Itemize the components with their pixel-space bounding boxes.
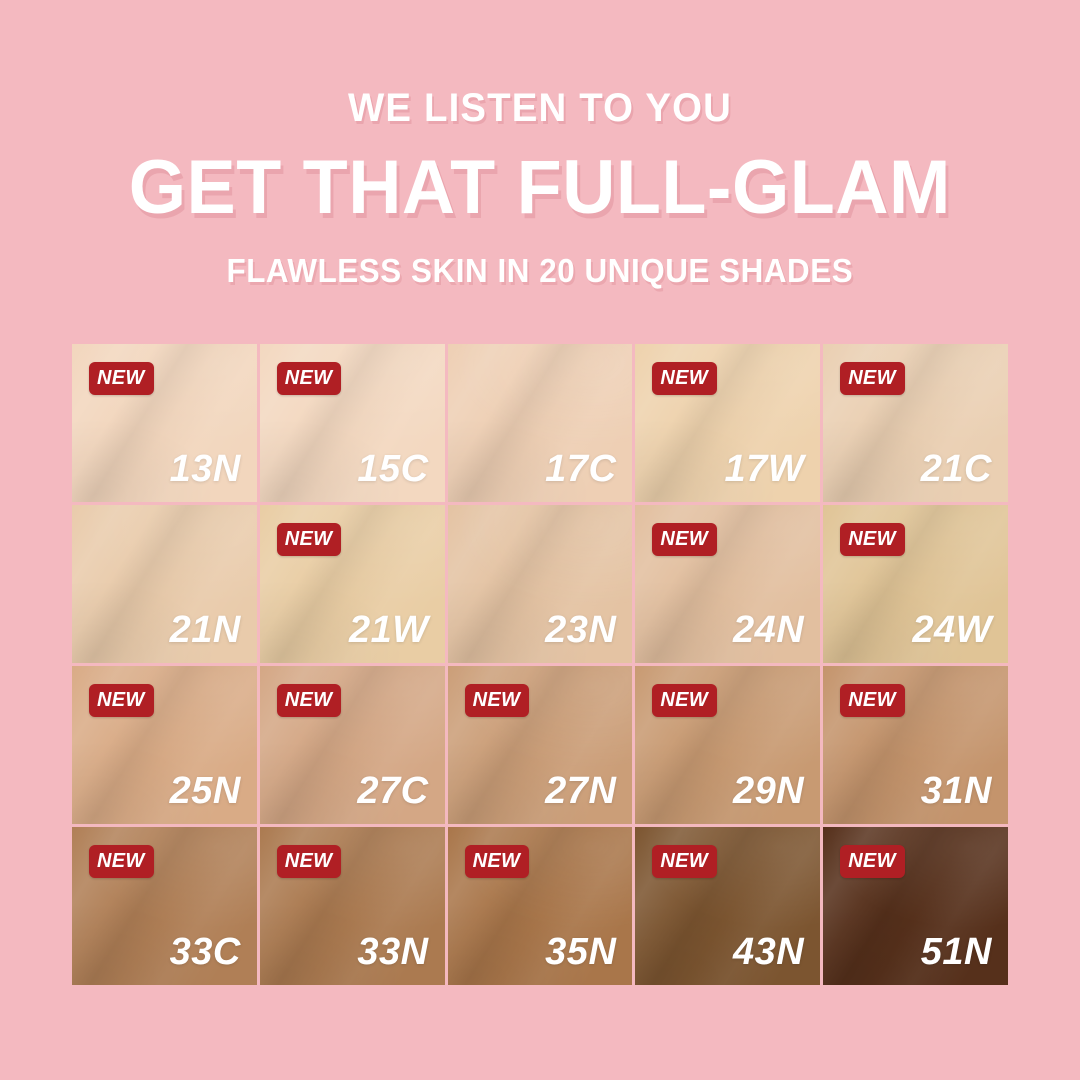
shade-code-label: 51N: [921, 933, 992, 971]
new-badge: NEW: [652, 362, 717, 395]
new-badge: NEW: [840, 845, 905, 878]
new-badge: NEW: [277, 684, 342, 717]
new-badge: NEW: [89, 845, 154, 878]
shade-swatch[interactable]: NEW13N: [72, 344, 257, 502]
shade-swatch[interactable]: NEW51N: [823, 827, 1008, 985]
shade-swatch[interactable]: NEW43N: [635, 827, 820, 985]
shade-code-label: 25N: [170, 772, 241, 810]
shade-swatch[interactable]: NEW15C: [260, 344, 445, 502]
new-badge: NEW: [465, 684, 530, 717]
shade-code-label: 17C: [545, 450, 616, 488]
shade-code-label: 29N: [733, 772, 804, 810]
new-badge: NEW: [89, 362, 154, 395]
new-badge: NEW: [277, 523, 342, 556]
shade-code-label: 21C: [921, 450, 992, 488]
shade-code-label: 27C: [357, 772, 428, 810]
shade-swatch[interactable]: NEW24N: [635, 505, 820, 663]
shade-swatch[interactable]: NEW31N: [823, 666, 1008, 824]
new-badge: NEW: [89, 684, 154, 717]
shade-swatch[interactable]: 17C: [448, 344, 633, 502]
header-eyebrow: WE LISTEN TO YOU: [348, 88, 732, 128]
shade-code-label: 33N: [357, 933, 428, 971]
shade-code-label: 15C: [357, 450, 428, 488]
shade-code-label: 13N: [170, 450, 241, 488]
shade-swatch[interactable]: NEW33C: [72, 827, 257, 985]
shade-code-label: 43N: [733, 933, 804, 971]
shade-code-label: 17W: [725, 450, 805, 488]
header-headline: GET THAT FULL-GLAM: [129, 150, 951, 226]
new-badge: NEW: [465, 845, 530, 878]
shade-code-label: 21N: [170, 611, 241, 649]
new-badge: NEW: [652, 845, 717, 878]
shade-swatch[interactable]: NEW27N: [448, 666, 633, 824]
shade-grid: NEW13NNEW15C17CNEW17WNEW21C21NNEW21W23NN…: [72, 344, 1008, 985]
shade-swatch[interactable]: 21N: [72, 505, 257, 663]
shade-swatch[interactable]: NEW35N: [448, 827, 633, 985]
shade-code-label: 27N: [545, 772, 616, 810]
new-badge: NEW: [652, 523, 717, 556]
shade-swatch[interactable]: NEW29N: [635, 666, 820, 824]
shade-code-label: 24W: [912, 611, 992, 649]
shade-swatch[interactable]: NEW17W: [635, 344, 820, 502]
new-badge: NEW: [840, 684, 905, 717]
shade-code-label: 23N: [545, 611, 616, 649]
shade-swatch[interactable]: NEW24W: [823, 505, 1008, 663]
shade-code-label: 24N: [733, 611, 804, 649]
new-badge: NEW: [840, 523, 905, 556]
shade-swatch[interactable]: NEW21C: [823, 344, 1008, 502]
shade-swatch[interactable]: NEW21W: [260, 505, 445, 663]
promo-header: WE LISTEN TO YOU GET THAT FULL-GLAM FLAW…: [0, 0, 1080, 330]
shade-swatch[interactable]: NEW27C: [260, 666, 445, 824]
header-subhead: FLAWLESS SKIN IN 20 UNIQUE SHADES: [227, 254, 854, 287]
shade-swatch[interactable]: NEW33N: [260, 827, 445, 985]
shade-code-label: 21W: [349, 611, 429, 649]
shade-code-label: 31N: [921, 772, 992, 810]
new-badge: NEW: [277, 362, 342, 395]
shade-swatch[interactable]: NEW25N: [72, 666, 257, 824]
new-badge: NEW: [277, 845, 342, 878]
shade-code-label: 33C: [170, 933, 241, 971]
new-badge: NEW: [840, 362, 905, 395]
shade-swatch[interactable]: 23N: [448, 505, 633, 663]
shade-code-label: 35N: [545, 933, 616, 971]
new-badge: NEW: [652, 684, 717, 717]
